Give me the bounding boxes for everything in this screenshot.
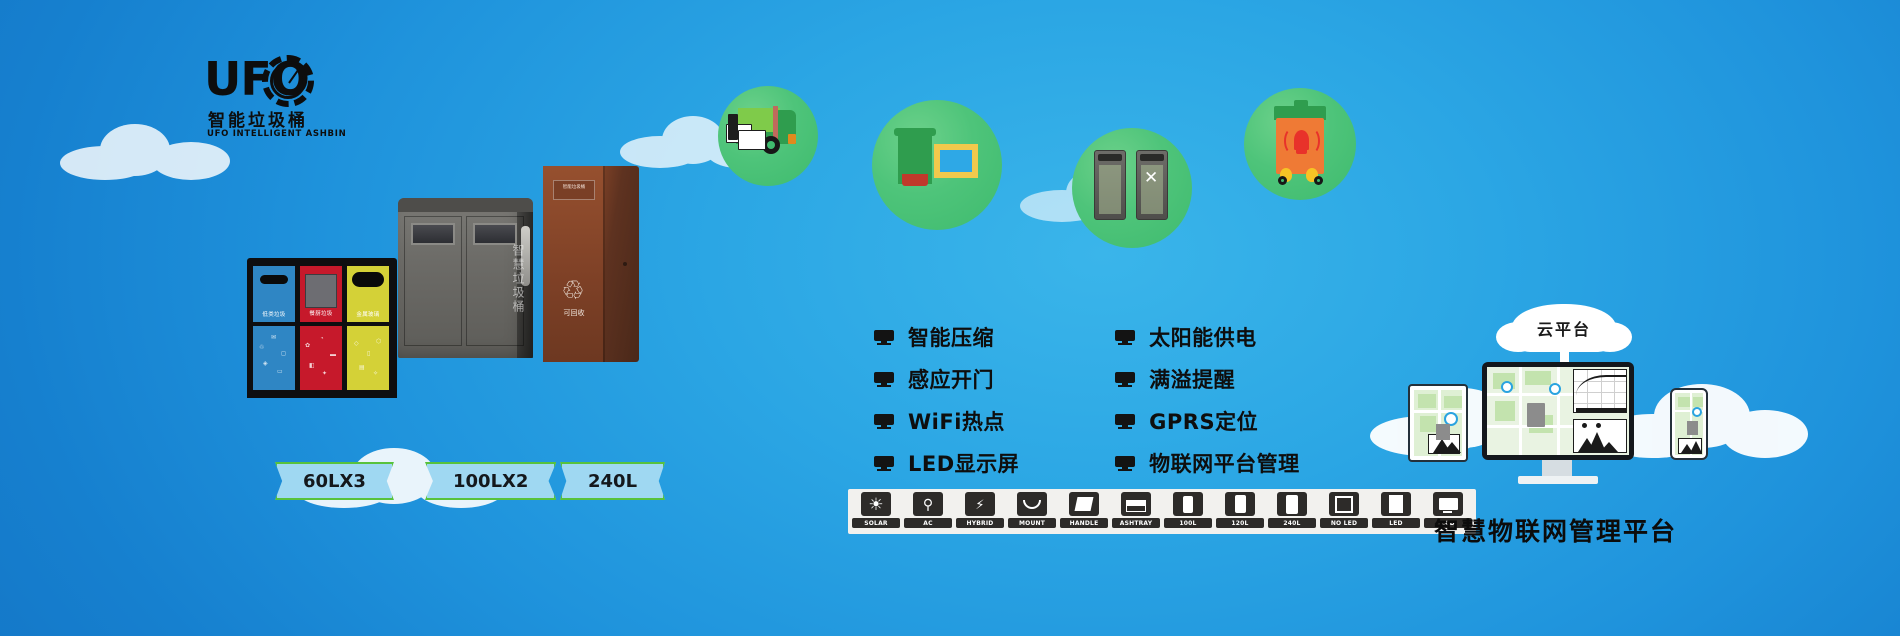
monitor-icon [874,414,894,429]
spec-icon-100l[interactable]: 100L [1164,492,1212,531]
spec-icon-label: HYBRID [956,518,1004,528]
feature-item: GPRS定位 [1115,406,1300,436]
cloud-platform-label: 云平台 [1512,304,1616,352]
feature-circle-fire-alarm [1244,88,1356,200]
bin-panel-blue-label: 低类垃圾 [253,310,295,318]
feature-label: 物联网平台管理 [1149,448,1300,478]
ashtray-icon [1121,492,1151,516]
bin-grey-door-left [404,216,462,346]
iot-dashboard-illustration [1408,362,1708,492]
feature-item: LED显示屏 [874,448,1019,478]
spec-icon-120l[interactable]: 120L [1216,492,1264,531]
capacity-label-240l-text: 240L [588,471,637,492]
bin-panel-red: 餐厨垃圾 ✿ ◔ ▬ ◧ ✦ [300,266,342,390]
garbage-truck-icon [718,86,818,186]
feature-column-right: 太阳能供电 满溢提醒 GPRS定位 物联网平台管理 [1115,322,1300,478]
monitor-screen [1487,367,1629,455]
capacity-label-60lx3-text: 60LX3 [303,471,366,492]
fire-alarm-icon [1244,88,1356,200]
bin-panel-red-label: 餐厨垃圾 [300,309,342,317]
platform-caption: 智慧物联网管理平台 [1434,512,1677,548]
phone-map [1675,393,1703,455]
feature-item: 感应开门 [874,364,1019,394]
bin-brown-label: 可回收 [551,308,597,318]
monitor-area-chart [1573,419,1627,453]
capacity-label-100lx2-text: 100LX2 [453,471,528,492]
bin-120l-icon [1225,492,1255,516]
spec-icon-label: 100L [1164,518,1212,528]
feature-label: WiFi热点 [908,406,1005,436]
capacity-label-240l: 240L [560,462,665,500]
logo-english-name: UFO INTELLIGENT ASHBIN [207,129,346,139]
desktop-monitor [1482,362,1634,460]
tablet-map [1414,390,1462,456]
no-led-icon [1329,492,1359,516]
feature-circle-compaction [872,100,1002,230]
spec-icon-ashtray[interactable]: ASHTRAY [1112,492,1160,531]
bin-panel-yellow: 金属玻璃 ◇ ▯ ⬡ ▤ ✧ [347,266,389,390]
spec-icon-label: AC [904,518,952,528]
capacity-label-100lx2: 100LX2 [425,462,556,500]
feature-item: 太阳能供电 [1115,322,1300,352]
power-plug-icon: ⚲ [913,492,943,516]
spec-icon-label: LED [1372,518,1420,528]
feature-label: 满溢提醒 [1149,364,1235,394]
spec-icon-label: 120L [1216,518,1264,528]
bin-brown-handle [623,262,627,266]
product-bin-smart-double: 智慧垃圾桶 [398,198,533,358]
product-bin-recycle: 智能垃圾桶 ♲ 可回收 [543,166,639,362]
monitor-icon [1115,330,1135,345]
monitor-foot [1518,476,1598,484]
feature-item: 物联网平台管理 [1115,448,1300,478]
bin-grey-screen-left [411,223,455,245]
spec-icon-label: HANDLE [1060,518,1108,528]
phone-device [1670,388,1708,460]
dual-bin-sensor-icon: ✕ [1072,128,1192,248]
spec-icon-hybrid[interactable]: ⚡ HYBRID [956,492,1004,531]
tablet-device [1408,384,1468,462]
monitor-icon [874,372,894,387]
bin-240l-icon [1277,492,1307,516]
spec-icon-label: SOLAR [852,518,900,528]
spec-icon-solar[interactable]: ☀ SOLAR [852,492,900,531]
monitor-line-chart [1573,369,1627,413]
brand-logo: UFO 智能垃圾桶 UFO INTELLIGENT ASHBIN [204,52,316,147]
bin-grey-screen-right [473,223,517,245]
bin-brown-tag: 智能垃圾桶 [553,180,595,200]
sun-icon: ☀ [861,492,891,516]
hybrid-bolt-icon: ⚡ [965,492,995,516]
monitor-icon [874,456,894,471]
cloud-platform-badge: 云平台 [1512,304,1616,352]
feature-circle-fill-sensing: ✕ [1072,128,1192,248]
feature-list: 智能压缩 感应开门 WiFi热点 LED显示屏 太阳能供电 满溢提醒 [874,322,1300,478]
monitor-icon [1115,372,1135,387]
banner-canvas: UFO 智能垃圾桶 UFO INTELLIGENT ASHBIN 低类垃圾 ♲ … [0,0,1900,636]
feature-item: 智能压缩 [874,322,1019,352]
product-bin-triple: 低类垃圾 ♲ ✉ ◻ ◈ ▭ 餐厨垃圾 ✿ ◔ ▬ ◧ ✦ [247,258,397,398]
handle-icon [1069,492,1099,516]
recycle-icon: ♲ [559,276,587,304]
bin-grey-top-cap [398,198,533,212]
spec-icon-no-led[interactable]: NO LED [1320,492,1368,531]
monitor-icon [1115,414,1135,429]
feature-item: WiFi热点 [874,406,1019,436]
feature-item: 满溢提醒 [1115,364,1300,394]
feature-label: 太阳能供电 [1149,322,1257,352]
bin-brown-face: 智能垃圾桶 ♲ 可回收 [543,166,605,362]
bin-100l-icon [1173,492,1203,516]
monitor-icon [1115,456,1135,471]
feature-label: 感应开门 [908,364,994,394]
led-icon [1381,492,1411,516]
spec-icon-label: MOUNT [1008,518,1056,528]
feature-circle-fleet-monitoring [718,86,818,186]
capacity-label-60lx3: 60LX3 [275,462,394,500]
spec-icon-led[interactable]: LED [1372,492,1420,531]
spec-icon-handle[interactable]: HANDLE [1060,492,1108,531]
spec-icon-label: 240L [1268,518,1316,528]
logo-chinese-name: 智能垃圾桶 [208,106,308,131]
spec-icon-ac[interactable]: ⚲ AC [904,492,952,531]
spec-icon-label: ASHTRAY [1112,518,1160,528]
feature-label: GPRS定位 [1149,406,1258,436]
feature-column-left: 智能压缩 感应开门 WiFi热点 LED显示屏 [874,322,1019,478]
spec-icon-240l[interactable]: 240L [1268,492,1316,531]
spec-icon-strip: ☀ SOLAR ⚲ AC ⚡ HYBRID MOUNT HANDL [848,489,1476,534]
bin-panel-yellow-label: 金属玻璃 [347,310,389,318]
feature-label: 智能压缩 [908,322,994,352]
spec-icon-label: NO LED [1320,518,1368,528]
mount-bracket-icon [1017,492,1047,516]
bin-grey-vertical-label: 智慧垃圾桶 [510,244,527,314]
monitor-icon [874,330,894,345]
spec-icon-mount[interactable]: MOUNT [1008,492,1056,531]
feature-label: LED显示屏 [908,448,1019,478]
bin-panel-blue: 低类垃圾 ♲ ✉ ◻ ◈ ▭ [253,266,295,390]
compaction-bin-icon [872,100,1002,230]
